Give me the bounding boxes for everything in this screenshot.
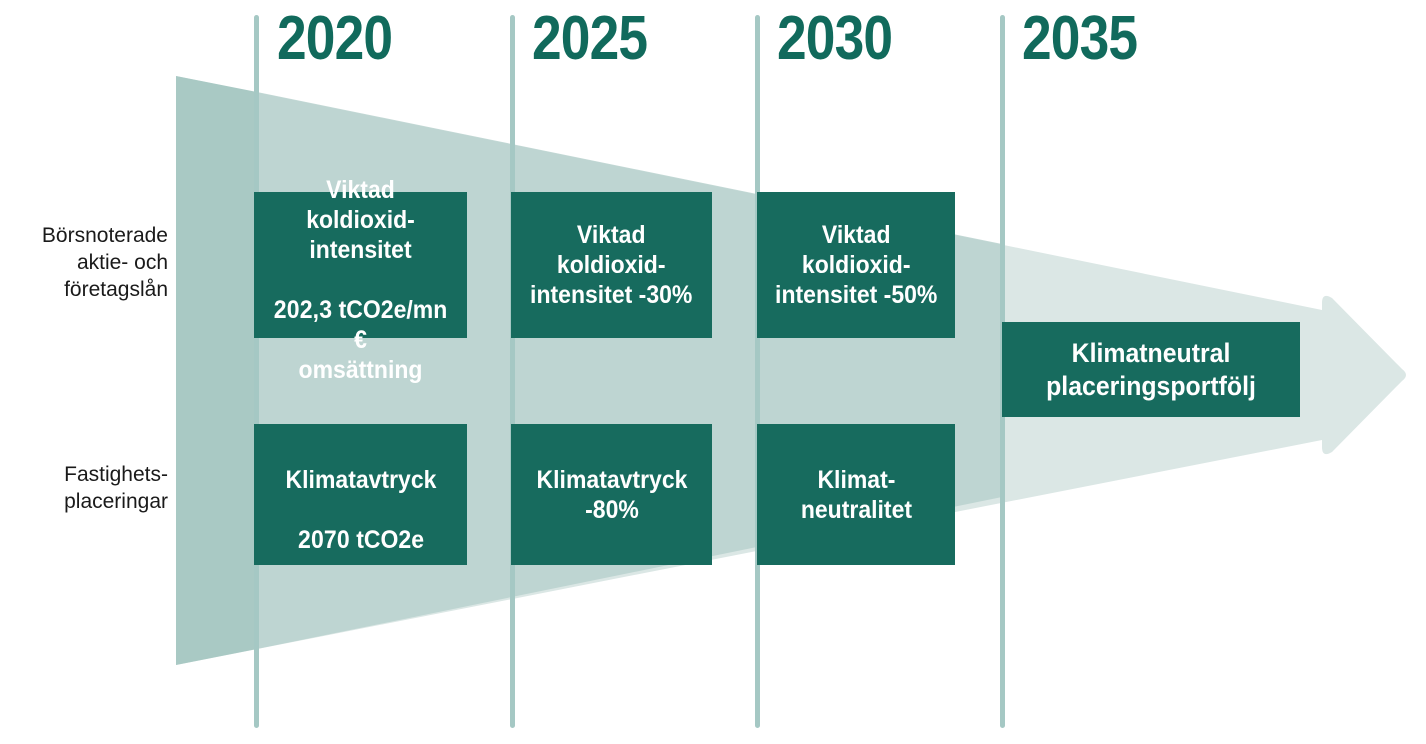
milestone-listed-2020-text: Viktad koldioxid- intensitet 202,3 tCO2e… [270,145,451,385]
milestone-realestate-2025[interactable]: Klimatavtryck -80% [511,424,712,565]
milestone-realestate-2020-text: Klimatavtryck 2070 tCO2e [285,435,436,555]
year-label-2030: 2030 [777,8,892,70]
milestone-realestate-2025-text: Klimatavtryck -80% [536,465,687,525]
milestone-listed-2020-value: 202,3 [274,296,332,324]
milestone-realestate-2030[interactable]: Klimat- neutralitet [757,424,955,565]
gridline-2030 [755,15,760,728]
milestone-goal-2035-text: Klimatneutral placeringsportfölj [1046,337,1256,403]
milestone-realestate-2020-value: 2070 [297,526,349,554]
gridline-2025 [510,15,515,728]
milestone-realestate-2030-text: Klimat- neutralitet [800,465,911,525]
climate-roadmap-infographic: 2020 2025 2030 2035 Börsnoterade aktie- … [0,0,1426,744]
year-label-2020: 2020 [277,8,392,70]
milestone-listed-2030[interactable]: Viktad koldioxid- intensitet -50% [757,192,955,338]
milestone-listed-2025-text: Viktad koldioxid- intensitet -30% [530,220,692,310]
row-label-listed-equity-corporate-bonds: Börsnoterade aktie- och företagslån [0,222,168,303]
year-label-2025: 2025 [532,8,647,70]
milestone-realestate-2020-unit: tCO2e [349,526,423,554]
milestone-listed-2025[interactable]: Viktad koldioxid- intensitet -30% [511,192,712,338]
year-label-2035: 2035 [1022,8,1137,70]
milestone-listed-2020[interactable]: Viktad koldioxid- intensitet 202,3 tCO2e… [254,192,467,338]
milestone-goal-2035[interactable]: Klimatneutral placeringsportfölj [1002,322,1300,417]
gridline-2020 [254,15,259,728]
milestone-listed-2020-line1: Viktad koldioxid- intensitet [306,176,415,264]
row-label-real-estate-investments: Fastighets- placeringar [0,461,168,515]
milestone-realestate-2020[interactable]: Klimatavtryck 2070 tCO2e [254,424,467,565]
milestone-realestate-2020-line1: Klimatavtryck [285,466,436,494]
milestone-listed-2030-text: Viktad koldioxid- intensitet -50% [775,220,937,310]
